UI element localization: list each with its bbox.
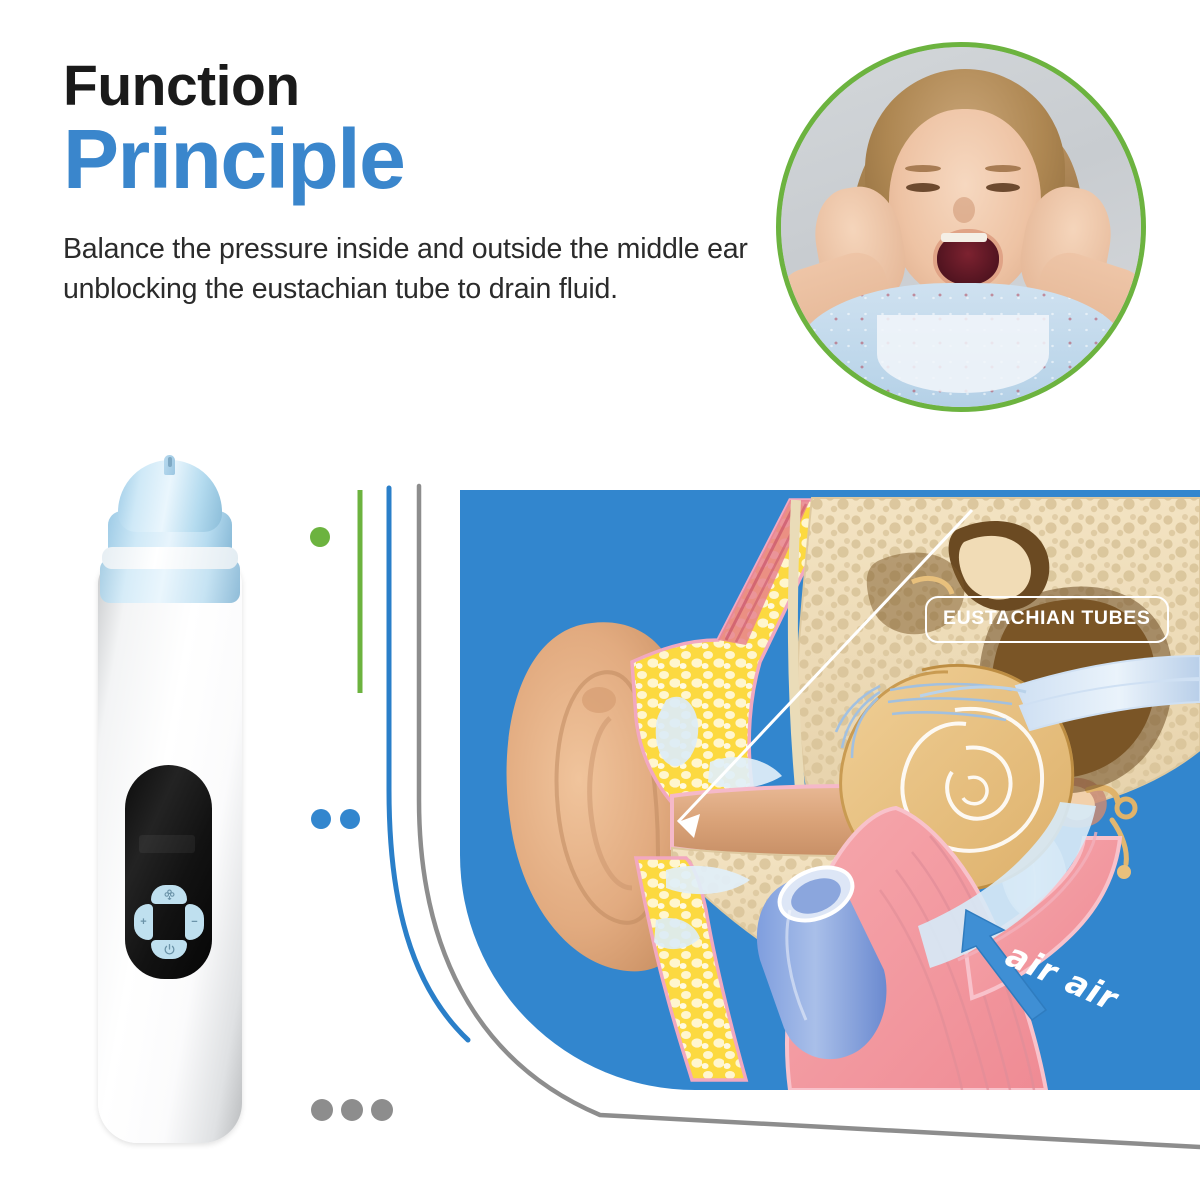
power-button[interactable] xyxy=(151,940,187,959)
mode-button[interactable] xyxy=(151,885,187,904)
eustachian-tubes-label: EUSTACHIAN TUBES xyxy=(925,596,1169,643)
blue-accent-curve xyxy=(389,488,468,1040)
photo-eye-left xyxy=(906,183,940,192)
title-block: Function Principle Balance the pressure … xyxy=(63,58,753,310)
photo-nose xyxy=(953,197,975,223)
child-covering-ears-photo xyxy=(776,42,1146,412)
increase-button[interactable]: + xyxy=(134,904,153,940)
gray-dot-2 xyxy=(341,1099,363,1121)
photo-brow-right xyxy=(985,165,1021,172)
blue-dot-1 xyxy=(311,809,331,829)
infographic-page: Function Principle Balance the pressure … xyxy=(0,0,1200,1200)
photo-collar xyxy=(877,315,1049,393)
device-button-cluster: + − xyxy=(134,885,204,959)
page-title-line2: Principle xyxy=(63,117,753,203)
header-subtitle: Balance the pressure inside and outside … xyxy=(63,229,753,310)
header-section: Function Principle Balance the pressure … xyxy=(0,0,1200,440)
device-nozzle-hole xyxy=(168,457,172,467)
photo-brow-left xyxy=(905,165,941,172)
product-device: + − xyxy=(84,455,284,1145)
device-display-screen xyxy=(139,835,195,853)
photo-eye-right xyxy=(986,183,1020,192)
green-dot xyxy=(310,527,330,547)
power-icon xyxy=(163,943,176,956)
page-title-line1: Function xyxy=(63,58,753,115)
device-white-ring xyxy=(102,547,238,569)
decrease-button[interactable]: − xyxy=(185,904,204,940)
gray-dot-3 xyxy=(371,1099,393,1121)
gray-dot-1 xyxy=(311,1099,333,1121)
photo-inner xyxy=(781,47,1141,407)
photo-teeth xyxy=(941,233,987,242)
flower-mode-icon xyxy=(163,888,176,901)
blue-dot-2 xyxy=(340,809,360,829)
